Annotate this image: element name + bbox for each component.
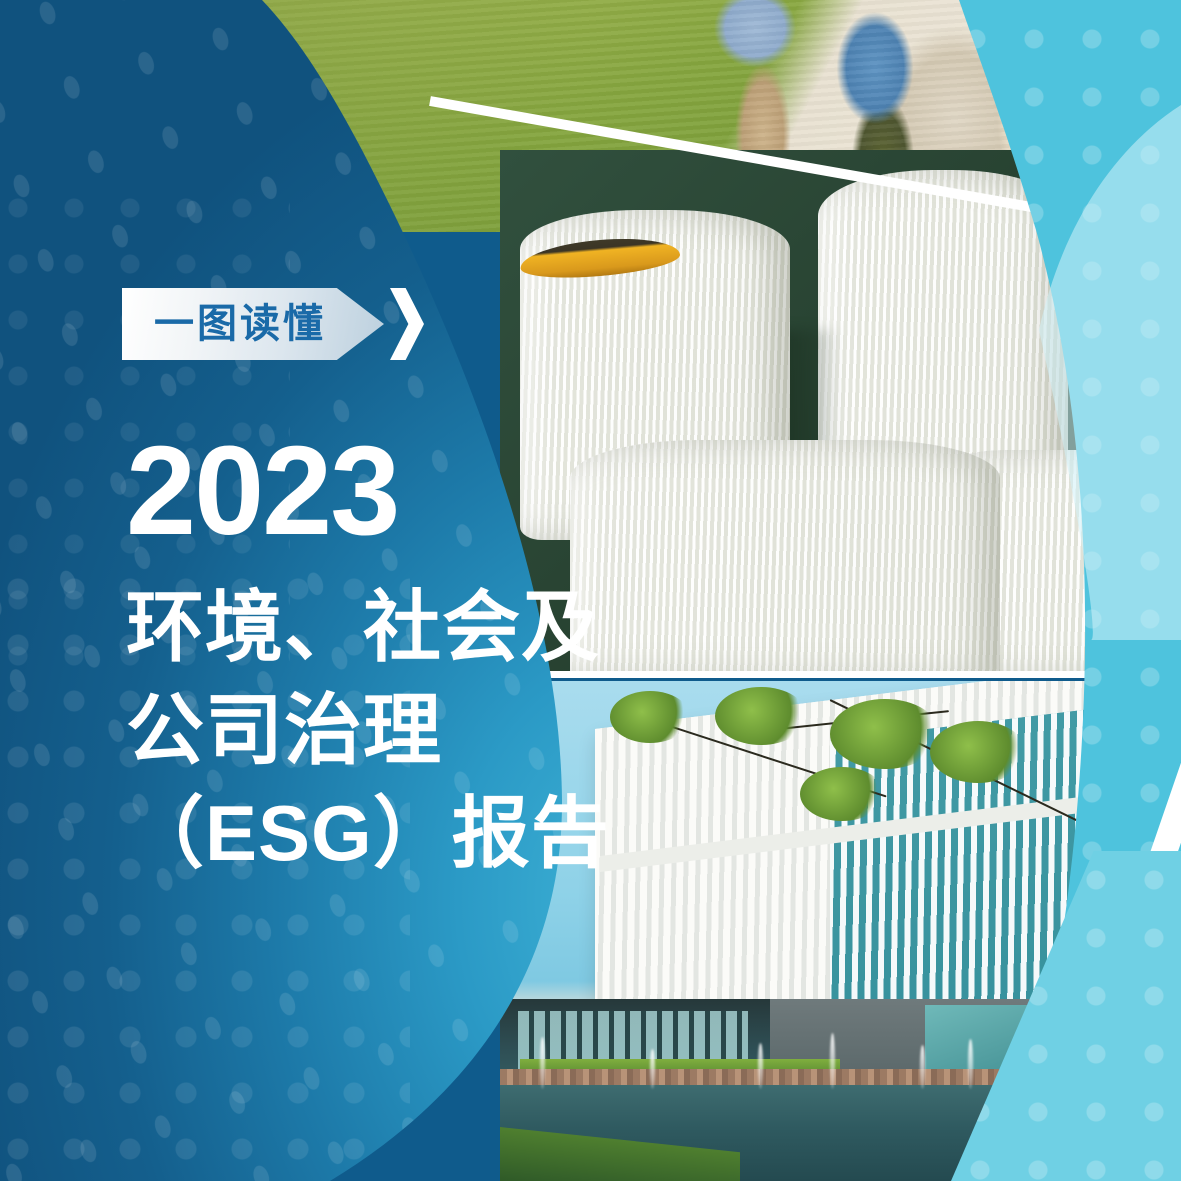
title-year: 2023 — [126, 432, 610, 550]
badge-label: 一图读懂 — [154, 304, 352, 344]
fountain-jet — [920, 1045, 925, 1089]
fountain-jet — [830, 1033, 835, 1089]
tree-foliage — [715, 687, 807, 745]
fountain-jet — [758, 1043, 763, 1089]
roll-band-yellow — [519, 233, 682, 283]
fiber-roll — [570, 440, 1000, 677]
tree-foliage — [830, 699, 940, 769]
title-line-1: 环境、社会及 — [126, 576, 610, 679]
double-chevron-right-icon — [390, 288, 424, 360]
title-line-3: （ESG）报告 — [126, 782, 610, 885]
tree-foliage — [800, 767, 884, 821]
poster-title: 2023 环境、社会及 公司治理 （ESG）报告 — [126, 432, 610, 885]
tree-foliage — [930, 721, 1026, 783]
fountain-jet — [540, 1037, 545, 1089]
fountain-jet — [968, 1039, 973, 1089]
fountain-jet — [650, 1049, 655, 1089]
title-line-2: 公司治理 — [126, 679, 610, 782]
badge-plate: 一图读懂 — [122, 288, 384, 360]
highlight-badge: 一图读懂 — [122, 288, 424, 360]
tree-foliage — [610, 691, 690, 743]
esg-report-poster: 一图读懂 2023 环境、社会及 公司治理 （ESG）报告 — [0, 0, 1181, 1181]
